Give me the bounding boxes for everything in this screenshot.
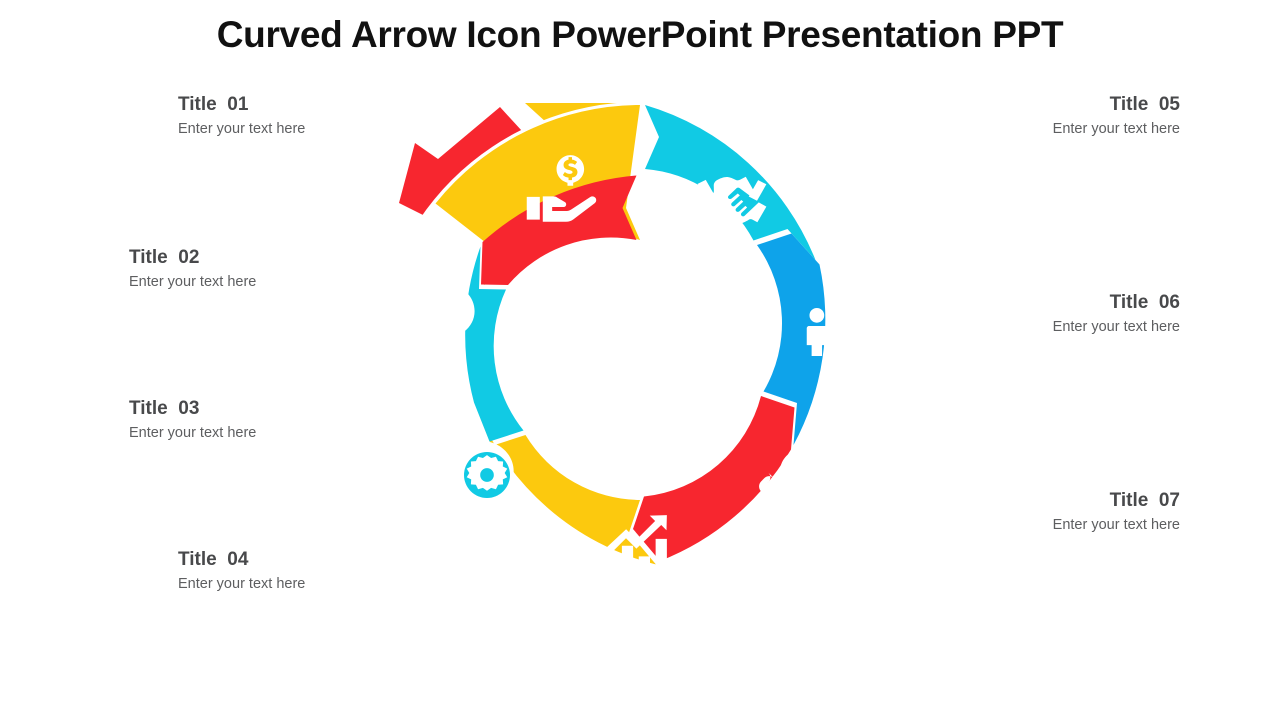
label-title-05: Title 05 (880, 94, 1180, 116)
cycle-ring-precise (375, 103, 905, 633)
label-subtitle-05: Enter your text here (880, 121, 1180, 138)
label-block-05[interactable]: Title 05 Enter your text here (880, 94, 1180, 138)
curved-arrow-cycle-diagram (375, 103, 905, 633)
presentation-slide: Curved Arrow Icon PowerPoint Presentatio… (0, 0, 1280, 720)
label-title-07: Title 07 (880, 490, 1180, 512)
page-title: Curved Arrow Icon PowerPoint Presentatio… (0, 14, 1280, 56)
label-subtitle-07: Enter your text here (880, 517, 1180, 534)
label-subtitle-06: Enter your text here (880, 319, 1180, 336)
team-people-icon (807, 301, 874, 360)
cycle-diagram-svg (375, 103, 905, 633)
label-block-06[interactable]: Title 06 Enter your text here (880, 292, 1180, 336)
label-title-06: Title 06 (880, 292, 1180, 314)
label-block-07[interactable]: Title 07 Enter your text here (880, 490, 1180, 534)
